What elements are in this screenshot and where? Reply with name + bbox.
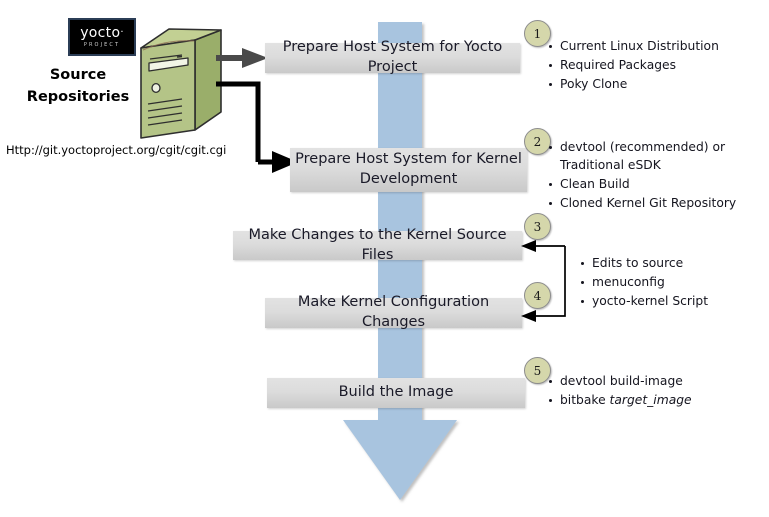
list-item: Required Packages [548, 57, 763, 75]
logo-dot: · [120, 27, 123, 38]
step-badge-3-number: 3 [534, 220, 542, 234]
process-box-1[interactable]: Prepare Host System for Yocto Project [265, 43, 520, 73]
list-item: bitbake target_image [548, 392, 763, 410]
logo-wordmark: yocto· [80, 26, 124, 40]
list-item: menuconfig [580, 274, 765, 292]
step-1-notes: Current Linux Distribution Required Pack… [548, 38, 763, 95]
step-3-4-note-list: Edits to source menuconfig yocto-kernel … [580, 255, 765, 311]
list-item: Cloned Kernel Git Repository [548, 195, 766, 213]
bitbake-target-arg: target_image [610, 393, 692, 407]
source-label-line1: Source [18, 65, 138, 87]
step-badge-1-number: 1 [534, 27, 542, 41]
step-2-notes: devtool (recommended) or Traditional eSD… [548, 139, 766, 214]
source-label-line2: Repositories [18, 87, 138, 109]
step-badge-1: 1 [524, 20, 551, 47]
list-item: Clean Build [548, 176, 766, 194]
process-box-2-line1: Prepare Host System for Kernel [295, 151, 522, 167]
list-item: Edits to source [580, 255, 765, 273]
step-3-4-shared-notes: Edits to source menuconfig yocto-kernel … [580, 255, 765, 312]
process-box-4[interactable]: Make Kernel Configuration Changes [265, 298, 522, 328]
source-repositories-label: Source Repositories [18, 65, 138, 109]
process-box-2-line2: Development [360, 171, 458, 187]
logo-word-text: yocto [80, 25, 120, 41]
step-badge-2: 2 [524, 128, 551, 155]
process-box-4-label: Make Kernel Configuration Changes [265, 293, 522, 332]
yocto-project-logo: yocto· PROJECT [68, 18, 136, 56]
step-badge-5: 5 [524, 357, 551, 384]
list-item: devtool build-image [548, 373, 763, 391]
process-box-3-label: Make Changes to the Kernel Source Files [233, 226, 522, 265]
logo-subtext: PROJECT [84, 43, 120, 48]
process-box-2[interactable]: Prepare Host System for Kernel Developme… [290, 148, 527, 192]
list-item: yocto-kernel Script [580, 293, 765, 311]
diagram-canvas: yocto· PROJECT Source Repositories Http:… [0, 0, 769, 517]
step-5-note-list: devtool build-image bitbake target_image [548, 373, 763, 410]
step-2-note-list: devtool (recommended) or Traditional eSD… [548, 139, 766, 213]
list-item: Poky Clone [548, 76, 763, 94]
bitbake-command: bitbake [560, 393, 610, 407]
list-item: Current Linux Distribution [548, 38, 763, 56]
step-badge-5-number: 5 [534, 364, 542, 378]
step-3-4-bracket-connector [516, 236, 576, 326]
step-5-notes: devtool build-image bitbake target_image [548, 373, 763, 411]
process-box-5[interactable]: Build the Image [267, 378, 525, 408]
process-box-1-label: Prepare Host System for Yocto Project [265, 38, 520, 77]
list-item: devtool (recommended) or Traditional eSD… [548, 139, 766, 175]
process-box-5-label: Build the Image [339, 383, 454, 403]
process-box-2-label: Prepare Host System for Kernel Developme… [295, 150, 522, 189]
step-badge-2-number: 2 [534, 135, 542, 149]
step-1-note-list: Current Linux Distribution Required Pack… [548, 38, 763, 94]
process-box-3[interactable]: Make Changes to the Kernel Source Files [233, 231, 522, 260]
